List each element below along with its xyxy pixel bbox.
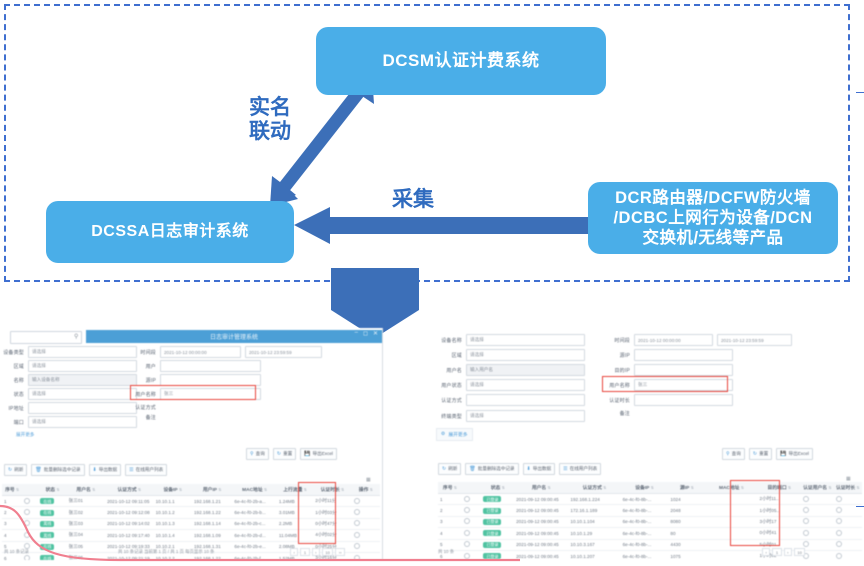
table-cell-srcip: 6e-4c-f0-8b-... bbox=[621, 539, 669, 550]
left-query-button[interactable]: ⚲查询 bbox=[246, 448, 269, 460]
right-batch-delete-label: 批量删除选中记录 bbox=[478, 466, 515, 472]
left-form-row-1: 区域 请选择 bbox=[2, 360, 137, 372]
sort-icon[interactable]: ⇅ bbox=[787, 485, 791, 490]
left-form2-label-4: 认证方式 bbox=[132, 404, 156, 411]
refresh-icon: ↻ bbox=[8, 467, 12, 473]
left-form2-row-1: 用户 bbox=[132, 360, 261, 372]
sort-icon[interactable]: ⇅ bbox=[500, 485, 504, 490]
sort-icon[interactable]: ⇅ bbox=[453, 485, 457, 490]
right-form2-label-0: 时间段 bbox=[604, 337, 630, 344]
radio-icon[interactable] bbox=[803, 530, 809, 536]
radio-icon[interactable] bbox=[803, 507, 809, 513]
table-column-header[interactable]: 设备IP ⇅ bbox=[621, 482, 669, 494]
table-cell-mac: 8080 bbox=[668, 516, 705, 527]
right-refresh-label: 刷新 bbox=[448, 466, 457, 472]
maximize-icon[interactable]: ◻ bbox=[363, 330, 368, 337]
right-form-row-3: 用户状态 请选择 bbox=[436, 379, 585, 391]
left-online-users-button[interactable]: ☰在线用户列表 bbox=[125, 464, 167, 476]
realname-label-line2: 联动 bbox=[249, 120, 291, 144]
table-cell-srcip: 6e-4c-f0-8b-... bbox=[621, 494, 669, 505]
table-cell-devip: 192.168.1.224 bbox=[568, 494, 620, 505]
right-form2-input-1[interactable] bbox=[634, 349, 733, 361]
node-dcssa-label: DCSSA日志审计系统 bbox=[91, 222, 249, 242]
right-edge-tick-top bbox=[856, 92, 864, 93]
left-form-label-3: 状态 bbox=[2, 391, 24, 398]
left-form2-label-5: 备注 bbox=[132, 414, 156, 421]
refresh-icon: ↻ bbox=[277, 451, 281, 457]
table-column-header[interactable] bbox=[22, 484, 38, 496]
left-online-users-label: 在线用户列表 bbox=[136, 467, 164, 473]
radio-icon[interactable] bbox=[836, 530, 842, 536]
export-icon: 💾 bbox=[304, 451, 310, 457]
left-form-label-5: 端口 bbox=[2, 419, 24, 426]
list-icon: ☰ bbox=[129, 467, 133, 473]
sort-icon[interactable]: ⇅ bbox=[91, 487, 95, 492]
table-column-header[interactable]: 用户名 ⇅ bbox=[67, 484, 105, 496]
right-form2-row-5: 备注 bbox=[604, 410, 630, 417]
row-select-radio[interactable] bbox=[801, 539, 834, 550]
left-form2-row-4: 认证方式 bbox=[132, 404, 156, 411]
table-column-header[interactable]: 认证方式 ⇅ bbox=[568, 482, 620, 494]
left-window-titlebar: 日志审计管理系统 bbox=[86, 330, 382, 343]
right-form2-input-0b[interactable]: 2021-10-12 23:59:59 bbox=[717, 334, 792, 346]
left-form-input-2[interactable]: 输入设备名称 bbox=[28, 374, 137, 386]
left-window-title: 日志审计管理系统 bbox=[210, 332, 258, 341]
radio-icon[interactable] bbox=[803, 518, 809, 524]
table-cell-auth bbox=[705, 550, 757, 560]
left-form-label-2: 名称 bbox=[2, 377, 24, 384]
right-highlight-username-box bbox=[602, 376, 728, 392]
node-dcssa-box[interactable]: DCSSA日志审计系统 bbox=[46, 201, 294, 263]
left-action-buttons: ⚲查询 ↻重置 💾导出Excel bbox=[246, 448, 337, 460]
sort-icon[interactable]: ⇅ bbox=[855, 485, 859, 490]
table-cell-user: 2021-09-12 09:00:45 bbox=[514, 528, 568, 539]
left-export-button[interactable]: 💾导出Excel bbox=[300, 448, 337, 460]
right-form2-input-2[interactable] bbox=[634, 364, 733, 376]
row-select-radio[interactable] bbox=[834, 550, 862, 560]
table-cell-user: 2021-09-12 09:00:45 bbox=[514, 505, 568, 516]
node-dcsm-label: DCSM认证计费系统 bbox=[382, 51, 539, 72]
table-cell-user: 2021-09-12 09:00:45 bbox=[514, 494, 568, 505]
row-select-radio[interactable] bbox=[834, 516, 862, 527]
left-form-label-0: 设备类型 bbox=[2, 349, 24, 356]
left-form-input-5[interactable]: 请选择 bbox=[28, 416, 137, 428]
table-column-header[interactable]: 状态 ⇅ bbox=[481, 482, 514, 494]
table-cell-devip: 10.10.1.207 bbox=[568, 550, 620, 560]
table-cell-user: 2021-09-12 09:00:45 bbox=[514, 516, 568, 527]
table-column-header[interactable]: 序号 ⇅ bbox=[438, 482, 462, 494]
collect-left-arrow bbox=[294, 206, 590, 246]
pink-curve-flourish bbox=[0, 500, 520, 566]
node-dcsm-box[interactable]: DCSM认证计费系统 bbox=[316, 27, 606, 95]
table-column-header[interactable]: 设备IP ⇅ bbox=[154, 484, 192, 496]
right-action-buttons: ⚲查询 ↻重置 💾导出Excel bbox=[722, 448, 813, 460]
sort-icon[interactable]: ⇅ bbox=[263, 487, 267, 492]
radio-icon[interactable] bbox=[836, 507, 842, 513]
sort-icon[interactable]: ⇅ bbox=[55, 487, 59, 492]
search-icon: ⚲ bbox=[726, 451, 730, 457]
table-column-header[interactable]: 认证用户名 ⇅ bbox=[801, 482, 834, 494]
left-form-input-0[interactable]: 请选择 bbox=[28, 346, 137, 358]
right-form-row-1: 区域 请选择 bbox=[436, 349, 585, 361]
row-select-radio[interactable] bbox=[801, 494, 834, 505]
left-form2-label-1: 用户 bbox=[132, 363, 156, 370]
right-form-row-0: 设备名称 请选择 bbox=[436, 334, 585, 346]
table-cell-srcip: 6e-4c-f0-8b-... bbox=[621, 550, 669, 560]
radio-icon[interactable] bbox=[836, 553, 842, 559]
download-icon: ⬇ bbox=[527, 466, 531, 472]
right-edge-tick-bottom bbox=[856, 506, 864, 507]
trash-icon: 🗑 bbox=[469, 466, 475, 472]
right-pager[interactable]: ‹ 1 › 10 bbox=[762, 548, 805, 556]
table-cell-mac: 1075 bbox=[668, 550, 705, 560]
sort-icon[interactable]: ⇅ bbox=[178, 487, 182, 492]
right-highlight-authuser-column-box bbox=[730, 480, 780, 546]
table-cell-user: 2021-09-12 09:00:45 bbox=[514, 539, 568, 550]
search-icon: ⚲ bbox=[250, 451, 254, 457]
sort-icon[interactable]: ⇅ bbox=[340, 487, 344, 492]
table-column-header[interactable]: 序号 ⇅ bbox=[2, 484, 22, 496]
left-reset-label: 重置 bbox=[283, 451, 292, 457]
right-batch-delete-button[interactable]: 🗑批量删除选中记录 bbox=[465, 463, 518, 475]
right-export-button[interactable]: 💾导出Excel bbox=[776, 448, 813, 460]
left-search-input[interactable] bbox=[10, 331, 82, 344]
left-form2-label-0: 时间段 bbox=[132, 349, 156, 356]
right-query-label: 查询 bbox=[732, 451, 741, 457]
right-refresh-button[interactable]: ↻刷新 bbox=[438, 463, 461, 475]
right-form-label-5: 终端类型 bbox=[436, 413, 462, 420]
table-column-header[interactable]: 源IP ⇅ bbox=[668, 482, 705, 494]
row-select-radio[interactable] bbox=[801, 528, 834, 539]
left-form2-row-0: 时间段 2021-10-12 00:00:00 2021-10-12 23:59… bbox=[132, 346, 322, 358]
table-cell-mac: 2048 bbox=[668, 505, 705, 516]
left-form2-label-2: 源IP bbox=[132, 377, 156, 384]
node-devices-box[interactable]: DCR路由器/DCFW防火墙 /DCBC上网行为设备/DCN 交换机/无线等产品 bbox=[588, 182, 838, 254]
sort-icon[interactable]: ⇅ bbox=[602, 485, 606, 490]
left-highlight-username-box bbox=[130, 385, 256, 400]
left-batch-delete-button[interactable]: 🗑批量删除选中记录 bbox=[31, 464, 84, 476]
node-devices-line3: 交换机/无线等产品 bbox=[642, 228, 783, 248]
radio-icon[interactable] bbox=[836, 541, 842, 547]
left-form-input-1[interactable]: 请选择 bbox=[28, 360, 137, 372]
minimize-icon[interactable]: – bbox=[355, 330, 358, 337]
right-form-input-0[interactable]: 请选择 bbox=[466, 334, 585, 346]
table-column-header[interactable]: 认证时长 ⇅ bbox=[834, 482, 862, 494]
download-icon: ⬇ bbox=[93, 467, 97, 473]
pager-size[interactable]: 10 bbox=[794, 548, 805, 556]
export-icon: 💾 bbox=[780, 451, 786, 457]
table-column-header[interactable]: 用户IP ⇅ bbox=[192, 484, 232, 496]
left-form-row-4: IP地址 bbox=[2, 402, 137, 414]
table-column-header[interactable]: 认证方式 ⇅ bbox=[105, 484, 154, 496]
search-icon[interactable]: ⚲ bbox=[74, 333, 78, 340]
right-form2-row-1: 源IP bbox=[604, 349, 733, 361]
right-form2-row-2: 目的IP bbox=[604, 364, 733, 376]
left-form-row-2: 名称 输入设备名称 bbox=[2, 374, 137, 386]
table-cell-mac: 80 bbox=[668, 528, 705, 539]
row-select-radio[interactable] bbox=[801, 550, 834, 560]
right-export-data-button[interactable]: ⬇导出数据 bbox=[523, 463, 556, 475]
table-column-header[interactable]: MAC地址 ⇅ bbox=[232, 484, 276, 496]
row-select-radio[interactable] bbox=[801, 516, 834, 527]
left-form2-input-0a[interactable]: 2021-10-12 00:00:00 bbox=[160, 346, 241, 358]
row-select-radio[interactable] bbox=[834, 528, 862, 539]
right-form2-row-0: 时间段 2021-10-12 00:00:00 2021-10-12 23:59… bbox=[604, 334, 792, 346]
node-devices-line2: /DCBC上网行为设备/DCN bbox=[613, 208, 812, 228]
right-export-data-label: 导出数据 bbox=[533, 466, 551, 472]
right-reset-label: 重置 bbox=[759, 451, 768, 457]
right-form-label-3: 用户状态 bbox=[436, 382, 462, 389]
table-cell-devip: 10.10.1.104 bbox=[568, 516, 620, 527]
right-form2-row-4: 认证时长 bbox=[604, 394, 733, 406]
right-form-input-4[interactable] bbox=[466, 394, 585, 406]
sort-icon[interactable]: ⇅ bbox=[217, 487, 221, 492]
right-form-row-4: 认证方式 bbox=[436, 394, 585, 406]
left-form-label-4: IP地址 bbox=[2, 405, 24, 412]
right-form2-label-2: 目的IP bbox=[604, 367, 630, 374]
realname-arrow-label: 实名 联动 bbox=[249, 96, 291, 143]
right-expand-more-label: 展开更多 bbox=[448, 431, 467, 438]
node-devices-line1: DCR路由器/DCFW防火墙 bbox=[615, 188, 811, 208]
left-query-label: 查询 bbox=[256, 451, 265, 457]
left-batch-delete-label: 批量删除选中记录 bbox=[44, 467, 81, 473]
close-icon[interactable]: ✕ bbox=[373, 330, 378, 337]
table-header-row: 序号 ⇅状态 ⇅用户名 ⇅认证方式 ⇅设备IP ⇅源IP ⇅MAC地址 ⇅目的端… bbox=[438, 482, 862, 494]
radio-icon[interactable] bbox=[803, 541, 809, 547]
left-reset-button[interactable]: ↻重置 bbox=[273, 448, 296, 460]
left-form2-input-1[interactable] bbox=[160, 360, 261, 372]
left-form-row-5: 端口 请选择 bbox=[2, 416, 137, 428]
refresh-icon: ↻ bbox=[753, 451, 757, 457]
sort-icon[interactable]: ⇅ bbox=[368, 487, 372, 492]
right-query-button[interactable]: ⚲查询 bbox=[722, 448, 745, 460]
pager-next[interactable]: › bbox=[784, 548, 792, 556]
left-refresh-label: 刷新 bbox=[14, 467, 23, 473]
right-form-label-1: 区域 bbox=[436, 352, 462, 359]
trash-icon: 🗑 bbox=[35, 467, 41, 473]
table-column-header[interactable] bbox=[462, 482, 482, 494]
table-cell-srcip: 6e-4c-f0-8b-... bbox=[621, 505, 669, 516]
left-expand-more-link[interactable]: 展开更多 bbox=[16, 432, 34, 438]
right-form2-input-0a[interactable]: 2021-10-12 00:00:00 bbox=[634, 334, 713, 346]
row-select-radio[interactable] bbox=[834, 494, 862, 505]
right-form-label-0: 设备名称 bbox=[436, 337, 462, 344]
right-form-row-2: 用户名 输入用户名 bbox=[436, 364, 585, 376]
left-form-row-3: 状态 请选择 bbox=[2, 388, 137, 400]
left-form-input-3[interactable]: 请选择 bbox=[28, 388, 137, 400]
architecture-diagram: DCSM认证计费系统 DCSSA日志审计系统 DCR路由器/DCFW防火墙 /D… bbox=[4, 4, 850, 282]
sort-icon[interactable]: ⇅ bbox=[546, 485, 550, 490]
table-cell-srcip: 6e-4c-f0-8b-... bbox=[621, 528, 669, 539]
left-window-controls[interactable]: – ◻ ✕ bbox=[355, 330, 378, 337]
left-refresh-button[interactable]: ↻刷新 bbox=[4, 464, 27, 476]
right-form2-label-5: 备注 bbox=[604, 410, 630, 417]
right-form-label-4: 认证方式 bbox=[436, 397, 462, 404]
left-export-label: 导出Excel bbox=[313, 451, 333, 457]
table-column-header[interactable]: 用户名 ⇅ bbox=[514, 482, 568, 494]
right-expand-more-bar[interactable]: ⚙ 展开更多 bbox=[436, 428, 473, 441]
right-form-input-1[interactable]: 请选择 bbox=[466, 349, 585, 361]
left-export-data-label: 导出数据 bbox=[99, 467, 117, 473]
right-form-row-5: 终端类型 请选择 bbox=[436, 410, 585, 422]
table-cell-devip: 172.16.1.189 bbox=[568, 505, 620, 516]
right-form-input-2[interactable]: 输入用户名 bbox=[466, 364, 585, 376]
right-export-label: 导出Excel bbox=[789, 451, 809, 457]
pager-prev[interactable]: ‹ bbox=[762, 548, 770, 556]
row-select-radio[interactable] bbox=[801, 505, 834, 516]
collect-arrow-label: 采集 bbox=[392, 188, 434, 212]
left-export-data-button[interactable]: ⬇导出数据 bbox=[89, 464, 122, 476]
right-form-label-2: 用户名 bbox=[436, 367, 462, 374]
right-form2-input-4[interactable] bbox=[634, 394, 733, 406]
right-online-users-label: 在线用户列表 bbox=[570, 466, 598, 472]
table-column-header[interactable]: 状态 ⇅ bbox=[38, 484, 66, 496]
left-form2-input-0b[interactable]: 2021-10-12 23:59:59 bbox=[245, 346, 322, 358]
sort-icon[interactable]: ⇅ bbox=[137, 487, 141, 492]
table-cell-mac: 1024 bbox=[668, 494, 705, 505]
table-cell-devip: 10.10.1.29 bbox=[568, 528, 620, 539]
list-icon: ☰ bbox=[563, 466, 567, 472]
right-toolbar-buttons: ↻刷新 🗑批量删除选中记录 ⬇导出数据 ☰在线用户列表 bbox=[438, 463, 601, 475]
table-cell-user: 2021-09-12 09:00:45 bbox=[514, 550, 568, 560]
sort-icon[interactable]: ⇅ bbox=[827, 485, 831, 490]
sort-icon[interactable]: ⇅ bbox=[15, 487, 19, 492]
left-toolbar-buttons: ↻刷新 🗑批量删除选中记录 ⬇导出数据 ☰在线用户列表 bbox=[4, 464, 167, 476]
table-cell-mac: 4430 bbox=[668, 539, 705, 550]
left-form2-row-5: 备注 bbox=[132, 414, 156, 421]
row-select-radio[interactable] bbox=[834, 539, 862, 550]
radio-icon[interactable] bbox=[836, 518, 842, 524]
left-form-row-0: 设备类型 请选择 bbox=[2, 346, 137, 358]
left-form-label-1: 区域 bbox=[2, 363, 24, 370]
right-form2-label-1: 源IP bbox=[604, 352, 630, 359]
column-settings-icon[interactable]: ▦ bbox=[366, 477, 371, 483]
right-online-users-button[interactable]: ☰在线用户列表 bbox=[559, 463, 601, 475]
right-form-input-3[interactable]: 请选择 bbox=[466, 379, 585, 391]
table-column-header[interactable]: 操作 ⇅ bbox=[352, 484, 380, 496]
realname-label-line1: 实名 bbox=[249, 96, 291, 120]
right-reset-button[interactable]: ↻重置 bbox=[749, 448, 772, 460]
left-form-input-4[interactable] bbox=[28, 402, 137, 414]
radio-icon[interactable] bbox=[803, 496, 809, 502]
gear-icon: ⚙ bbox=[441, 432, 445, 437]
sort-icon[interactable]: ⇅ bbox=[689, 485, 693, 490]
pager-page-1[interactable]: 1 bbox=[772, 548, 781, 556]
refresh-icon: ↻ bbox=[442, 466, 446, 472]
table-cell-srcip: 6e-4c-f0-8b-... bbox=[621, 516, 669, 527]
right-form2-label-4: 认证时长 bbox=[604, 397, 630, 404]
sort-icon[interactable]: ⇅ bbox=[649, 485, 653, 490]
table-cell-devip: 10.10.3.167 bbox=[568, 539, 620, 550]
right-form-input-5[interactable]: 请选择 bbox=[466, 410, 585, 422]
radio-icon[interactable] bbox=[836, 496, 842, 502]
